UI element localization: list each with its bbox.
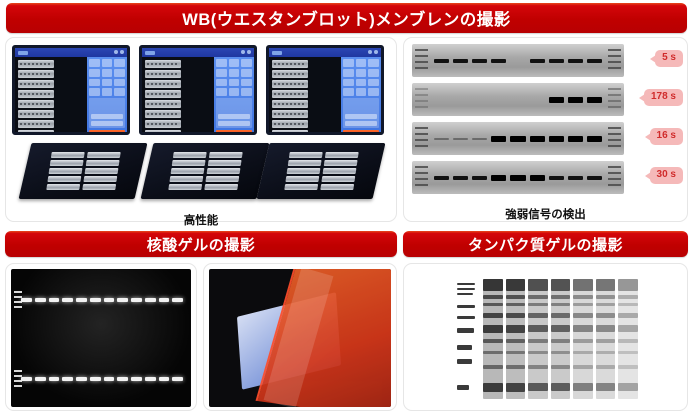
ladder-marks-left: [415, 88, 428, 111]
gel-thumb: [272, 70, 308, 78]
exposure-label-4: 30 s: [650, 167, 683, 184]
ladder-marks-right: [608, 49, 621, 72]
ladder-marks-left: [415, 166, 428, 189]
card-transilluminator-photo: [203, 263, 397, 411]
caption-wb-right: 強弱信号の検出: [410, 206, 681, 222]
band-row: [434, 161, 602, 194]
capture-button: [89, 130, 125, 135]
membrane-row: 5 s: [410, 44, 683, 77]
gel-image-canvas: [269, 57, 341, 135]
gel-thumb: [18, 100, 54, 108]
software-screenshot-group: [11, 45, 391, 137]
banner-protein-label: タンパク質ゲルの撮影: [468, 234, 623, 255]
membrane-row: 16 s: [410, 122, 683, 155]
tray-strips: [46, 152, 120, 190]
software-screenshot-3: [266, 45, 384, 135]
transilluminator-photo: [209, 269, 391, 407]
membrane-tray: [141, 143, 270, 199]
protein-lane: [573, 279, 593, 399]
app-control-panel: [214, 57, 254, 135]
page-root: WB(ウエスタンブロット)メンブレンの撮影: [0, 0, 693, 415]
gel-image-canvas: [15, 57, 87, 135]
tray-strips: [284, 152, 358, 190]
exposure-label-3: 16 s: [650, 128, 683, 145]
window-controls: [114, 50, 124, 54]
protein-lane: [528, 279, 548, 399]
banner-dna-label: 核酸ゲルの撮影: [147, 234, 256, 255]
app-body: [15, 57, 127, 135]
ladder-marks-right: [608, 166, 621, 189]
gel-thumb: [272, 80, 308, 88]
band-row: [434, 44, 602, 77]
banner-protein-gel: タンパク質ゲルの撮影: [403, 231, 688, 257]
gel-thumb: [18, 60, 54, 68]
membrane-strip-group: 5 s 178 s: [410, 44, 683, 202]
software-screenshot-1: [12, 45, 130, 135]
card-wb-high-performance: 高性能: [5, 37, 397, 222]
protein-lane: [551, 279, 571, 399]
window-controls: [241, 50, 251, 54]
gel-thumb: [145, 130, 181, 135]
exposure-label-2: 178 s: [644, 89, 683, 106]
membrane-strip-2: [412, 83, 624, 116]
gel-thumb: [18, 70, 54, 78]
control-button-grid: [343, 59, 379, 96]
capture-button: [216, 130, 252, 135]
app-control-panel: [341, 57, 381, 135]
gel-thumb: [272, 130, 308, 135]
protein-lane: [618, 279, 638, 399]
exposure-label-1: 5 s: [655, 50, 683, 67]
ladder-marks-right: [608, 127, 621, 150]
window-controls: [368, 50, 378, 54]
gel-thumb: [18, 90, 54, 98]
ladder-marks-left: [415, 49, 428, 72]
card-dna-gel-image: [5, 263, 197, 411]
gel-thumb: [145, 70, 181, 78]
gel-thumb: [18, 120, 54, 128]
banner-dna-gel: 核酸ゲルの撮影: [5, 231, 397, 257]
gel-glow: [11, 269, 191, 407]
app-body: [269, 57, 381, 135]
card-wb-signal-detection: 5 s 178 s: [403, 37, 688, 222]
gel-thumb: [145, 60, 181, 68]
dna-band-row-bottom: [21, 377, 183, 381]
gel-thumb: [145, 100, 181, 108]
membrane-strip-3: [412, 122, 624, 155]
protein-marker-ladder: [457, 283, 477, 395]
gel-thumb: [145, 90, 181, 98]
protein-lane: [596, 279, 616, 399]
gel-thumb: [145, 120, 181, 128]
gel-thumb: [145, 80, 181, 88]
ladder-marks-right: [608, 88, 621, 111]
band-row: [434, 83, 602, 116]
gel-thumb: [18, 130, 54, 135]
gel-thumb: [272, 60, 308, 68]
gel-thumb: [272, 110, 308, 118]
protein-lane-group: [483, 279, 638, 399]
caption-wb-left: 高性能: [11, 212, 391, 228]
dna-gel-photo: [11, 269, 191, 407]
app-title-bar: [142, 48, 254, 57]
membrane-tray-group: [11, 141, 391, 203]
app-body: [142, 57, 254, 135]
gel-thumb: [18, 80, 54, 88]
gel-thumb: [145, 110, 181, 118]
membrane-row: 178 s: [410, 83, 683, 116]
membrane-row: 30 s: [410, 161, 683, 194]
banner-wb-title: WB(ウエスタンブロット)メンブレンの撮影: [6, 3, 687, 33]
control-sub-panel: [216, 98, 252, 128]
app-title-bar: [269, 48, 381, 57]
membrane-strip-4: [412, 161, 624, 194]
card-protein-gel-image: [403, 263, 688, 411]
dna-band-row-top: [21, 298, 183, 302]
gel-thumb: [272, 90, 308, 98]
gel-image-canvas: [142, 57, 214, 135]
banner-wb-label: WB(ウエスタンブロット)メンブレンの撮影: [182, 6, 511, 30]
gel-thumb: [272, 100, 308, 108]
app-control-panel: [87, 57, 127, 135]
capture-button: [343, 130, 379, 135]
ladder-marks-left: [415, 127, 428, 150]
gel-thumb: [18, 110, 54, 118]
membrane-tray: [257, 143, 386, 199]
gel-thumb: [272, 120, 308, 128]
membrane-strip-1: [412, 44, 624, 77]
app-title-bar: [15, 48, 127, 57]
band-row: [434, 122, 602, 155]
protein-gel-photo: [409, 269, 682, 407]
control-button-grid: [216, 59, 252, 96]
protein-lane: [483, 279, 503, 399]
control-sub-panel: [89, 98, 125, 128]
membrane-tray: [19, 143, 148, 199]
tray-strips: [168, 152, 242, 190]
protein-lane: [506, 279, 526, 399]
control-sub-panel: [343, 98, 379, 128]
software-screenshot-2: [139, 45, 257, 135]
control-button-grid: [89, 59, 125, 96]
